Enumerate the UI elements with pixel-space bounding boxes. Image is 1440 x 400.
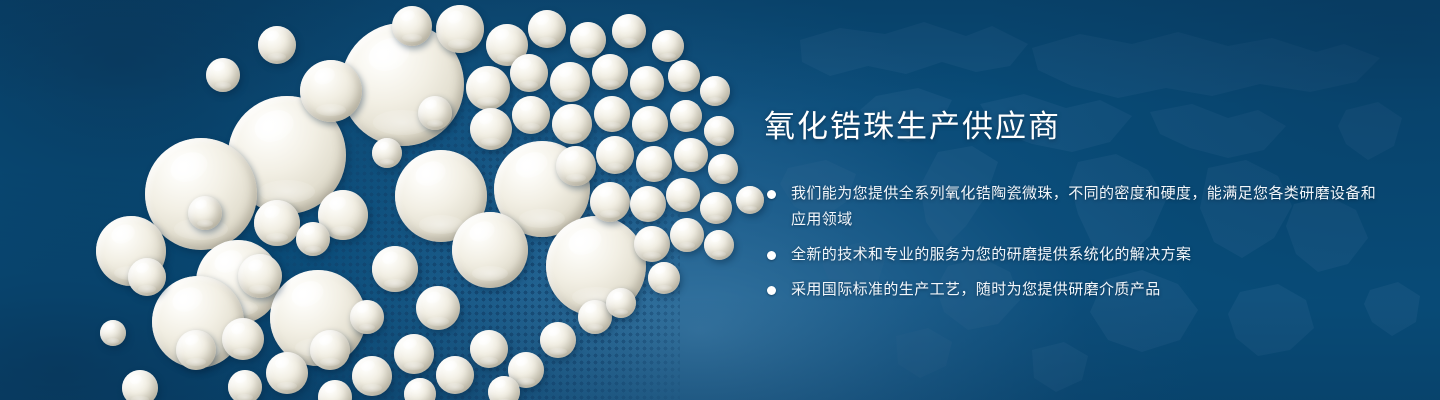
bead	[122, 370, 158, 400]
list-item-label: 全新的技术和专业的服务为您的研磨提供系统化的解决方案	[791, 246, 1191, 263]
banner-copy: 氧化锆珠生产供应商 我们能为您提供全系列氧化锆陶瓷微珠，不同的密度和硬度，能满足…	[764, 108, 1384, 302]
bead	[470, 330, 508, 368]
bead	[418, 96, 452, 130]
bead	[594, 96, 630, 132]
bead	[238, 254, 282, 298]
bullet-circle-icon	[767, 251, 776, 260]
bead	[592, 54, 628, 90]
bead	[300, 60, 362, 122]
feature-list: 我们能为您提供全系列氧化锆陶瓷微珠，不同的密度和硬度，能满足您各类研磨设备和应用…	[764, 181, 1384, 302]
bead	[372, 246, 418, 292]
bead	[632, 106, 668, 142]
bead	[394, 334, 434, 374]
bead	[708, 154, 738, 184]
bead	[668, 60, 700, 92]
bead	[350, 300, 384, 334]
page-title: 氧化锆珠生产供应商	[764, 108, 1384, 145]
bead	[404, 378, 436, 400]
bead	[636, 146, 672, 182]
list-item-label: 我们能为您提供全系列氧化锆陶瓷微珠，不同的密度和硬度，能满足您各类研磨设备和应用…	[791, 185, 1376, 228]
bead	[416, 286, 460, 330]
bead	[352, 356, 392, 396]
bead	[436, 356, 474, 394]
bullet-circle-icon	[767, 286, 776, 295]
bead	[296, 222, 330, 256]
bead	[222, 318, 264, 360]
list-item-label: 采用国际标准的生产工艺，随时为您提供研磨介质产品	[791, 281, 1161, 298]
bead	[670, 100, 702, 132]
zirconia-bead-cluster-image	[0, 0, 780, 400]
bead	[228, 370, 262, 400]
bead	[372, 138, 402, 168]
bead	[470, 108, 512, 150]
bead	[666, 178, 700, 212]
bead	[310, 330, 350, 370]
bead	[452, 212, 528, 288]
bead	[552, 104, 592, 144]
bead	[652, 30, 684, 62]
bead	[590, 182, 630, 222]
bead	[188, 196, 222, 230]
list-item: 全新的技术和专业的服务为您的研磨提供系统化的解决方案	[764, 242, 1384, 268]
bead	[466, 66, 510, 110]
bead	[392, 6, 432, 46]
bead	[510, 54, 548, 92]
bead	[630, 186, 666, 222]
bead	[258, 26, 296, 64]
list-item: 我们能为您提供全系列氧化锆陶瓷微珠，不同的密度和硬度，能满足您各类研磨设备和应用…	[764, 181, 1384, 233]
bead	[606, 288, 636, 318]
bead	[145, 138, 257, 250]
bead	[648, 262, 680, 294]
bead	[570, 22, 606, 58]
bead	[436, 5, 484, 53]
bead	[318, 380, 352, 400]
bead	[556, 146, 596, 186]
bead	[176, 330, 216, 370]
bead	[634, 226, 670, 262]
bead	[736, 186, 764, 214]
bead	[528, 10, 566, 48]
bead	[540, 322, 576, 358]
bead	[512, 96, 550, 134]
bead	[550, 62, 590, 102]
list-item: 采用国际标准的生产工艺，随时为您提供研磨介质产品	[764, 277, 1384, 303]
bead	[612, 14, 646, 48]
bead	[700, 76, 730, 106]
bead	[700, 192, 732, 224]
bead	[630, 66, 664, 100]
bead	[670, 218, 704, 252]
bead	[488, 376, 520, 400]
bead	[704, 230, 734, 260]
bead	[254, 200, 300, 246]
bullet-circle-icon	[767, 190, 776, 199]
bead	[128, 258, 166, 296]
bead	[266, 352, 308, 394]
bead	[674, 138, 708, 172]
hero-banner: 氧化锆珠生产供应商 我们能为您提供全系列氧化锆陶瓷微珠，不同的密度和硬度，能满足…	[0, 0, 1440, 400]
bead	[596, 136, 634, 174]
bead	[704, 116, 734, 146]
bead	[100, 320, 126, 346]
bead	[206, 58, 240, 92]
